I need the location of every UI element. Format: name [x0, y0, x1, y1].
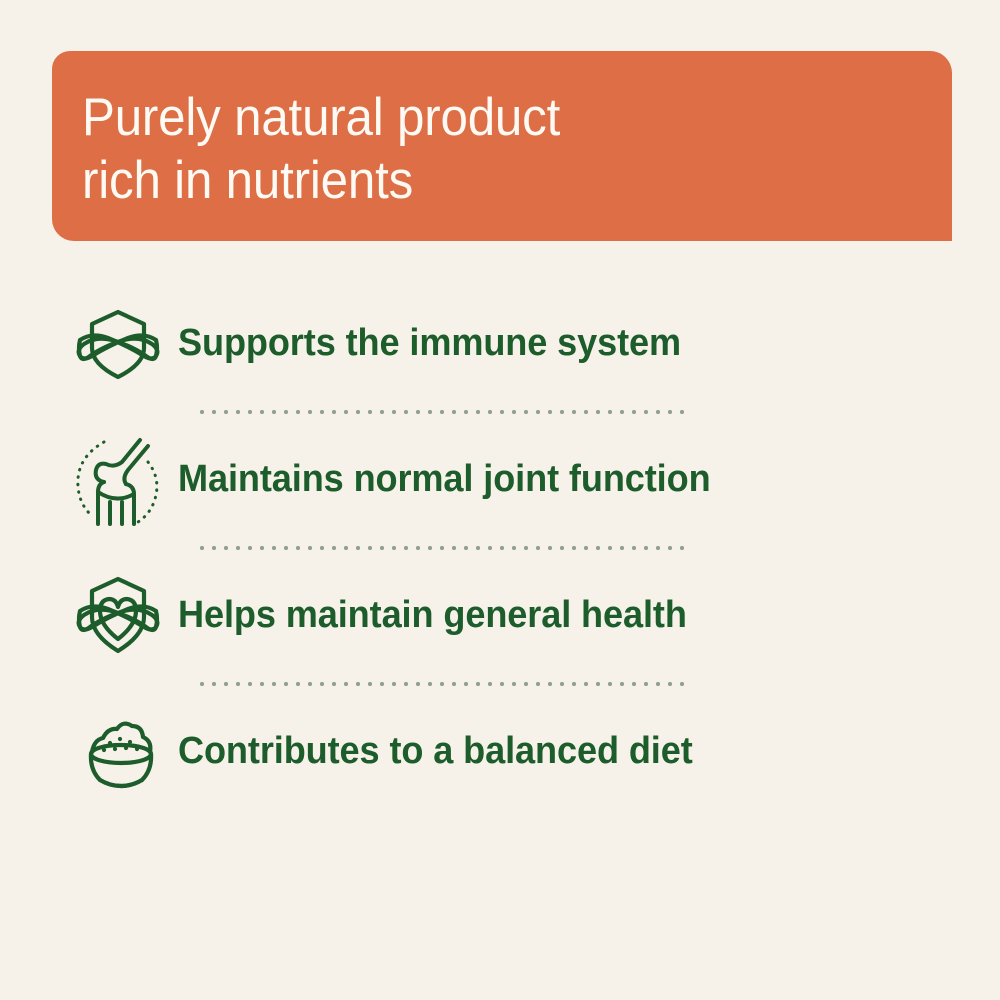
benefit-label: Supports the immune system	[178, 324, 681, 364]
knee-joint-icon	[70, 432, 178, 528]
benefit-divider	[196, 672, 692, 696]
heart-shield-leaves-icon	[70, 573, 178, 659]
benefit-label: Maintains normal joint function	[178, 460, 711, 500]
benefit-label: Helps maintain general health	[178, 596, 687, 636]
benefit-divider	[196, 536, 692, 560]
benefit-item-immune-system: Supports the immune system	[0, 288, 1000, 400]
shield-leaves-icon	[70, 304, 178, 384]
pet-food-bowl-icon	[70, 712, 178, 792]
benefits-list: Supports the immune system Maint	[0, 288, 1000, 808]
benefit-item-joint-function: Maintains normal joint function	[0, 424, 1000, 536]
benefit-item-general-health: Helps maintain general health	[0, 560, 1000, 672]
benefit-label: Contributes to a balanced diet	[178, 732, 693, 772]
banner-title: Purely natural product rich in nutrients	[82, 87, 891, 212]
benefit-item-balanced-diet: Contributes to a balanced diet	[0, 696, 1000, 808]
benefit-divider	[196, 400, 692, 424]
headline-banner: Purely natural product rich in nutrients	[52, 51, 952, 241]
